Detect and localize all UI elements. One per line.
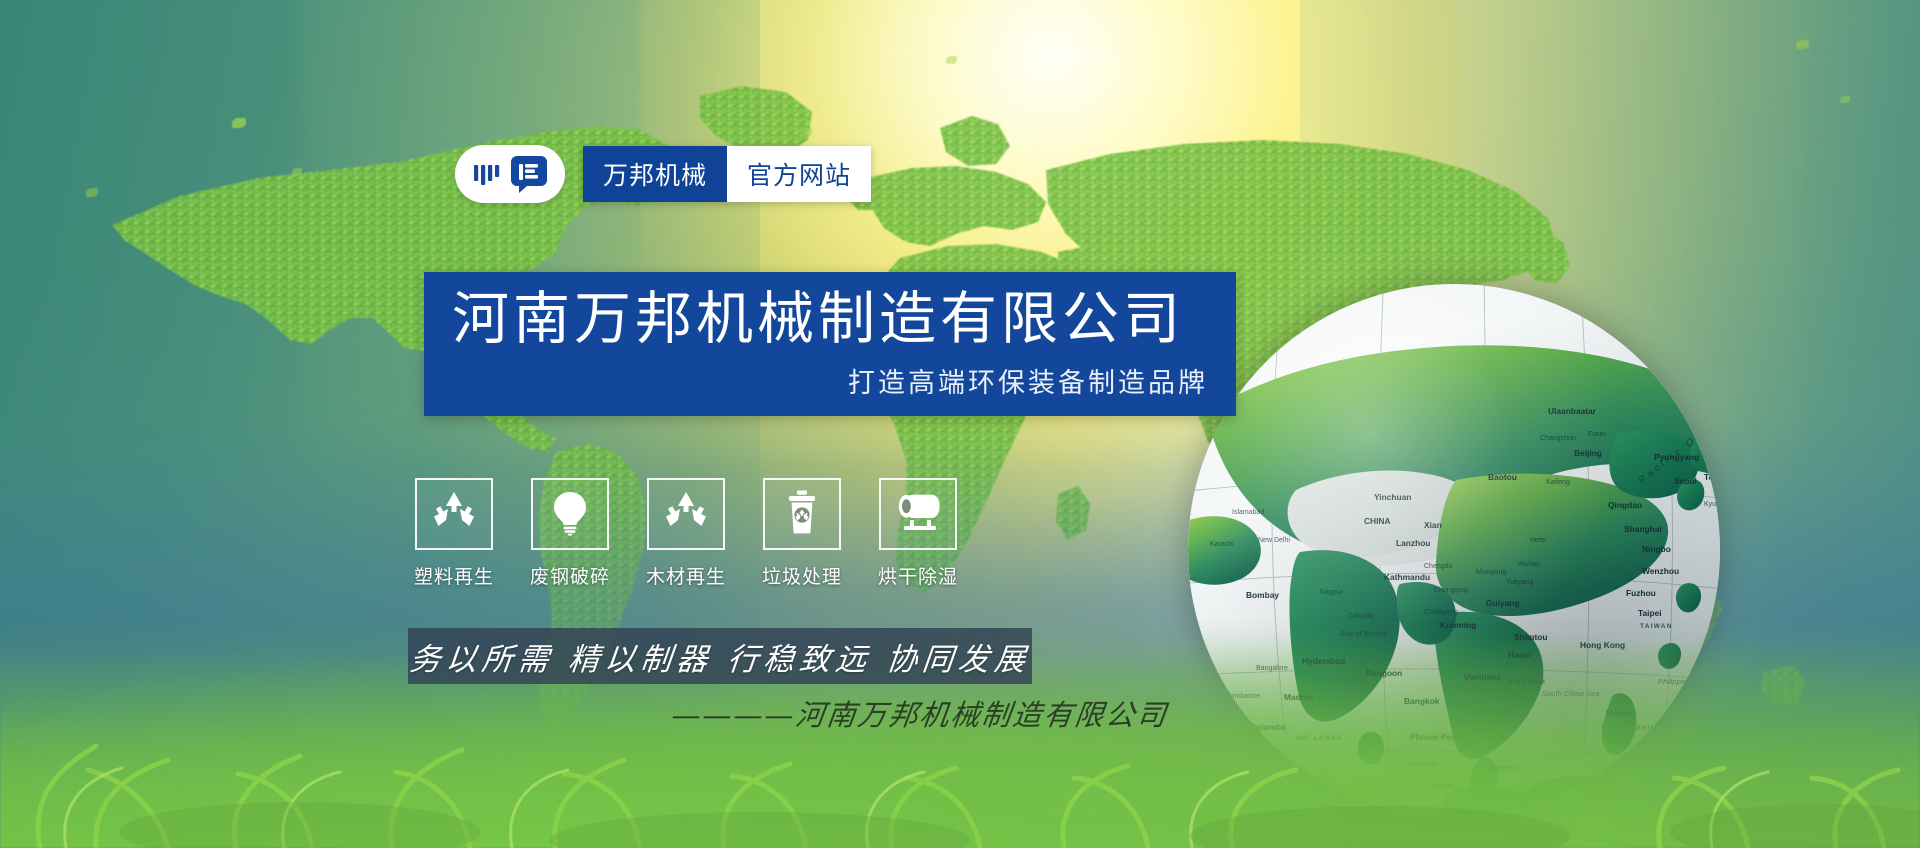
- main-nav: 万邦机械 官方网站: [583, 146, 871, 202]
- feature-drying-dehumidifying[interactable]: 烘干除湿: [876, 478, 960, 589]
- nav-item-official-site[interactable]: 官方网站: [727, 146, 871, 202]
- leaf-speck: [1796, 40, 1809, 49]
- leaf-speck: [292, 168, 302, 176]
- recycle-icon: [430, 488, 478, 541]
- feature-label: 垃圾处理: [762, 562, 842, 589]
- svg-text:Nagpur: Nagpur: [1320, 589, 1344, 596]
- svg-text:Qingdao: Qingdao: [1608, 500, 1642, 510]
- svg-text:Changchun: Changchun: [1540, 435, 1576, 442]
- svg-text:Mianyang: Mianyang: [1476, 569, 1506, 576]
- site-header: 万邦机械 官方网站: [455, 145, 871, 203]
- svg-text:Guiyang: Guiyang: [1486, 598, 1520, 608]
- page-subtitle: 打造高端环保装备制造品牌: [452, 361, 1208, 400]
- svg-text:Seoul: Seoul: [1674, 476, 1697, 486]
- feature-label: 木材再生: [646, 562, 726, 589]
- slogan-signature: ————河南万邦机械制造有限公司: [657, 692, 1182, 734]
- feature-icon-box: [531, 478, 609, 550]
- svg-text:Bombay: Bombay: [1246, 590, 1279, 600]
- svg-text:Fuxin: Fuxin: [1588, 431, 1605, 438]
- svg-text:Ningbo: Ningbo: [1642, 544, 1671, 554]
- feature-plastic-recycling[interactable]: 塑料再生: [412, 478, 496, 589]
- svg-text:Kaifeng: Kaifeng: [1546, 479, 1570, 486]
- feature-icon-box: [879, 478, 957, 550]
- slogan-text: 务以所需 精以制器 行稳致远 协同发展: [407, 634, 1032, 679]
- svg-text:Hefei: Hefei: [1530, 537, 1547, 544]
- svg-text:Kyushu: Kyushu: [1704, 501, 1720, 508]
- feature-icon-box: [763, 478, 841, 550]
- feature-waste-treatment[interactable]: 垃圾处理: [760, 478, 844, 589]
- hero-banner: Ulaanbaatar Beijing Pyongyang Seoul Toky…: [0, 0, 1920, 848]
- svg-text:Tokyo: Tokyo: [1704, 472, 1720, 482]
- svg-text:Xian: Xian: [1424, 520, 1442, 530]
- svg-text:Taipei: Taipei: [1638, 608, 1662, 618]
- svg-text:Wuhan: Wuhan: [1518, 561, 1540, 568]
- svg-text:Wenzhou: Wenzhou: [1642, 566, 1679, 576]
- svg-text:Chittagong: Chittagong: [1424, 609, 1458, 616]
- svg-text:Chengdu: Chengdu: [1424, 563, 1453, 570]
- svg-text:Islamabad: Islamabad: [1232, 509, 1264, 516]
- feature-icon-box: [647, 478, 725, 550]
- svg-text:New Delhi: New Delhi: [1258, 537, 1290, 544]
- slogan-bar: 务以所需 精以制器 行稳致远 协同发展: [408, 628, 1032, 684]
- feature-label: 塑料再生: [414, 562, 494, 589]
- svg-text:Kathmandu: Kathmandu: [1384, 572, 1430, 582]
- svg-text:Ulaanbaatar: Ulaanbaatar: [1548, 406, 1597, 416]
- feature-icon-box: [415, 478, 493, 550]
- leaf-speck: [946, 56, 957, 64]
- svg-text:Baotou: Baotou: [1488, 472, 1517, 482]
- svg-text:Shanghai: Shanghai: [1624, 524, 1662, 534]
- lightbulb-icon: [546, 488, 594, 541]
- leaf-speck: [86, 188, 98, 197]
- logo-b-icon: [509, 154, 549, 194]
- feature-label: 烘干除湿: [878, 562, 958, 589]
- trash-bin-icon: [778, 488, 826, 541]
- feature-label: 废钢破碎: [530, 562, 610, 589]
- feature-scrap-steel-crushing[interactable]: 废钢破碎: [528, 478, 612, 589]
- svg-text:Yueyang: Yueyang: [1506, 579, 1533, 586]
- dryer-drum-icon: [894, 488, 942, 541]
- feature-wood-recycling[interactable]: 木材再生: [644, 478, 728, 589]
- svg-text:CHINA: CHINA: [1364, 516, 1391, 526]
- svg-text:Karachi: Karachi: [1210, 541, 1234, 548]
- hero-title-box: 河南万邦机械制造有限公司 打造高端环保装备制造品牌: [424, 272, 1236, 416]
- wanbang-logo[interactable]: [455, 145, 565, 203]
- svg-text:Lanzhou: Lanzhou: [1396, 538, 1430, 548]
- recycle-icon: [662, 488, 710, 541]
- svg-text:Yinchuan: Yinchuan: [1374, 492, 1411, 502]
- page-title: 河南万邦机械制造有限公司: [452, 290, 1208, 350]
- logo-w-icon: [471, 157, 505, 191]
- leaf-speck: [1840, 96, 1850, 103]
- svg-text:Fuzhou: Fuzhou: [1626, 588, 1656, 598]
- nav-item-company[interactable]: 万邦机械: [583, 146, 727, 202]
- feature-list: 塑料再生 废钢破碎: [412, 478, 960, 589]
- leaf-speck: [800, 128, 812, 137]
- svg-text:Beijing: Beijing: [1574, 448, 1602, 458]
- svg-text:Chongqing: Chongqing: [1434, 587, 1468, 594]
- leaf-speck: [232, 118, 246, 128]
